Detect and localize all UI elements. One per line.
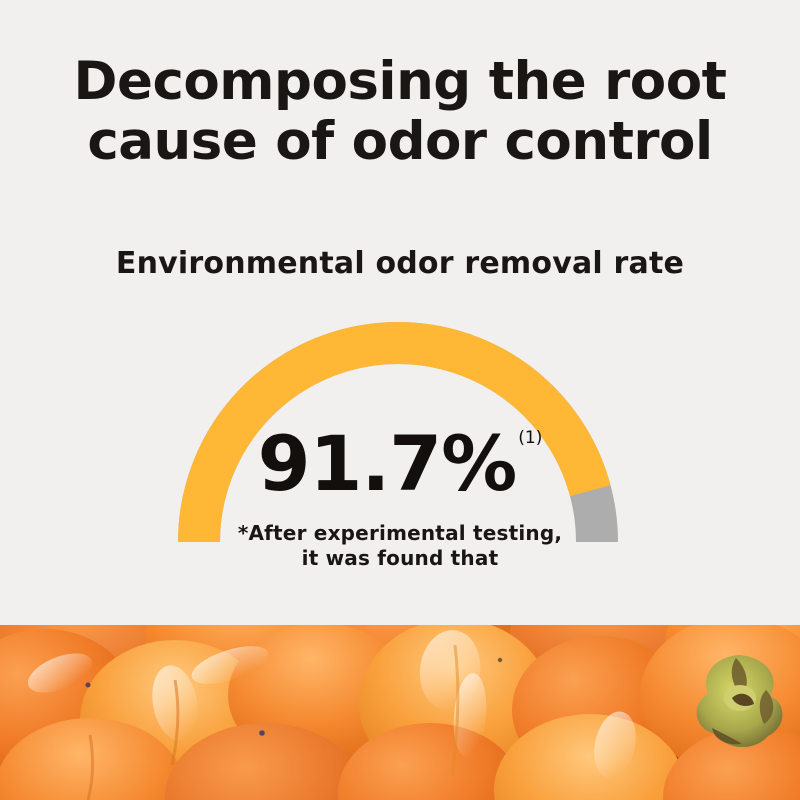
persimmon-photo xyxy=(0,625,800,800)
persimmon-photo-art xyxy=(0,625,800,800)
gauge-footnote: *After experimental testing, it was foun… xyxy=(0,521,800,571)
gauge-footnote-line-2: it was found that xyxy=(0,546,800,571)
gauge-value-number: 91.7% xyxy=(258,424,517,504)
gauge-footnote-marker: (1) xyxy=(518,430,542,447)
gauge-subtitle: Environmental odor removal rate xyxy=(0,245,800,283)
gauge-value-label: 91.7%(1) xyxy=(0,424,800,504)
page-title-line-2: cause of odor control xyxy=(0,112,800,172)
page-title-line-1: Decomposing the root xyxy=(0,52,800,112)
poster-root: Decomposing the root cause of odor contr… xyxy=(0,0,800,800)
page-title: Decomposing the root cause of odor contr… xyxy=(0,52,800,172)
gauge-footnote-line-1: *After experimental testing, xyxy=(0,521,800,546)
